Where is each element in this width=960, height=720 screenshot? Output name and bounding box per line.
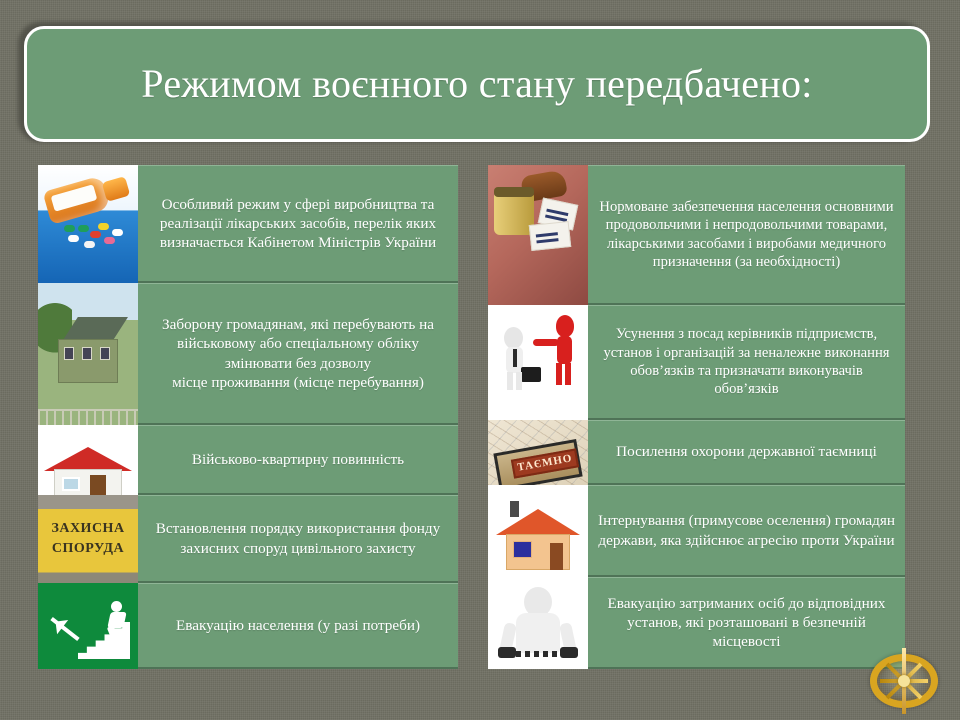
list-item: ТАЄМНО Посилення охорони державної таємн… bbox=[488, 420, 905, 485]
list-item: Нормоване забезпечення населення основни… bbox=[488, 165, 905, 305]
list-item: Особливий режим у сфері виробництва та р… bbox=[38, 165, 458, 283]
right-item-text-2: Усунення з посад керівників підприємств,… bbox=[588, 305, 905, 420]
green-house-image bbox=[38, 283, 138, 425]
right-item-text-4: Інтернування (примусове оселення) громад… bbox=[588, 485, 905, 577]
shelter-sign-line-2: СПОРУДА bbox=[38, 541, 138, 557]
handcuffed-figure-image bbox=[488, 577, 588, 669]
left-item-text-5: Евакуацію населення (у разі потреби) bbox=[138, 583, 458, 669]
list-item: ЗАХИСНА СПОРУДА Встановлення порядку вик… bbox=[38, 495, 458, 583]
list-item: Військово-квартирну повинність bbox=[38, 425, 458, 495]
right-item-text-1: Нормоване забезпечення населення основни… bbox=[588, 165, 905, 305]
orange-house-image bbox=[488, 485, 588, 577]
slide-title-box: Режимом воєнного стану передбачено: bbox=[24, 26, 930, 142]
left-item-text-4: Встановлення порядку використання фонду … bbox=[138, 495, 458, 583]
list-item: Евакуацію населення (у разі потреби) bbox=[38, 583, 458, 669]
pill-bottle-image bbox=[38, 165, 138, 283]
list-item: Заборону громадянам, які перебувають на … bbox=[38, 283, 458, 425]
shelter-sign-image: ЗАХИСНА СПОРУДА bbox=[38, 495, 138, 583]
figures-pointing-image bbox=[488, 305, 588, 420]
left-item-text-2: Заборону громадянам, які перебувають на … bbox=[138, 283, 458, 425]
secret-stamp-image: ТАЄМНО bbox=[488, 420, 588, 485]
shelter-sign-line-1: ЗАХИСНА bbox=[38, 521, 138, 537]
right-item-text-3: Посилення охорони державної таємниці bbox=[588, 420, 905, 485]
list-item: Усунення з посад керівників підприємств,… bbox=[488, 305, 905, 420]
left-column: Особливий режим у сфері виробництва та р… bbox=[38, 165, 458, 669]
left-item-text-1: Особливий режим у сфері виробництва та р… bbox=[138, 165, 458, 283]
list-item: Інтернування (примусове оселення) громад… bbox=[488, 485, 905, 577]
list-item: Евакуацію затриманих осіб до відповідних… bbox=[488, 577, 905, 669]
white-house-red-roof-image bbox=[38, 425, 138, 495]
right-item-text-5: Евакуацію затриманих осіб до відповідних… bbox=[588, 577, 905, 669]
food-goods-image bbox=[488, 165, 588, 305]
evacuation-sign-image bbox=[38, 583, 138, 669]
right-column: Нормоване забезпечення населення основни… bbox=[488, 165, 905, 669]
left-item-text-3: Військово-квартирну повинність bbox=[138, 425, 458, 495]
page-title: Режимом воєнного стану передбачено: bbox=[123, 62, 830, 107]
golden-wreath-emblem-icon bbox=[860, 650, 948, 712]
